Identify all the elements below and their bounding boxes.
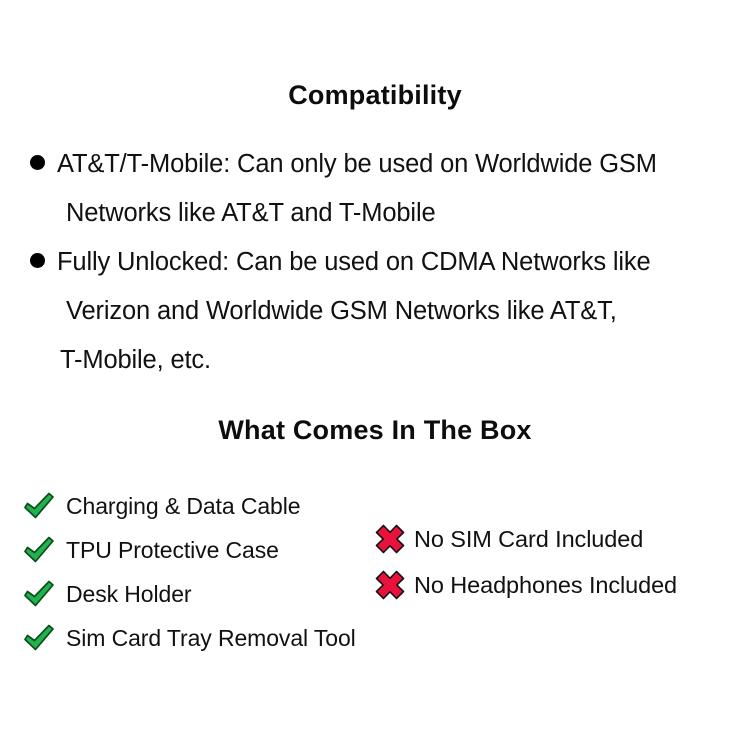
compatibility-heading: Compatibility	[0, 80, 750, 111]
list-item: Desk Holder	[22, 572, 356, 616]
list-item: Charging & Data Cable	[22, 484, 356, 528]
box-contents-heading: What Comes In The Box	[0, 415, 750, 446]
green-check-icon	[22, 623, 56, 653]
list-item: No SIM Card Included	[374, 516, 677, 562]
list-item: No Headphones Included	[374, 562, 677, 608]
excluded-items-list: No SIM Card Included No Headphones Inclu…	[374, 516, 677, 608]
compatibility-item: Fully Unlocked: Can be used on CDMA Netw…	[0, 238, 750, 385]
list-item-label: No Headphones Included	[414, 572, 677, 599]
list-item-label: Desk Holder	[66, 581, 191, 608]
green-check-icon	[22, 579, 56, 609]
compatibility-line: AT&T/T-Mobile: Can only be used on World…	[0, 140, 750, 189]
compatibility-list: AT&T/T-Mobile: Can only be used on World…	[0, 140, 750, 385]
green-check-icon	[22, 535, 56, 565]
list-item: Sim Card Tray Removal Tool	[22, 616, 356, 660]
list-item: TPU Protective Case	[22, 528, 356, 572]
list-item-label: No SIM Card Included	[414, 526, 643, 553]
product-info-graphic: Compatibility AT&T/T-Mobile: Can only be…	[0, 0, 750, 750]
compatibility-line: Verizon and Worldwide GSM Networks like …	[0, 287, 750, 336]
green-check-icon	[22, 491, 56, 521]
red-cross-icon	[374, 569, 406, 601]
compatibility-line-text: AT&T/T-Mobile: Can only be used on World…	[57, 150, 657, 178]
compatibility-line: Fully Unlocked: Can be used on CDMA Netw…	[0, 238, 750, 287]
compatibility-line-text: Fully Unlocked: Can be used on CDMA Netw…	[57, 248, 651, 276]
included-items-list: Charging & Data Cable TPU Protective Cas…	[22, 484, 356, 660]
compatibility-item: AT&T/T-Mobile: Can only be used on World…	[0, 140, 750, 238]
list-item-label: Sim Card Tray Removal Tool	[66, 625, 356, 652]
compatibility-line: Networks like AT&T and T-Mobile	[0, 189, 750, 238]
list-item-label: Charging & Data Cable	[66, 493, 300, 520]
list-item-label: TPU Protective Case	[66, 537, 279, 564]
bullet-dot-icon	[30, 155, 45, 170]
bullet-dot-icon	[30, 253, 45, 268]
compatibility-line: T-Mobile, etc.	[0, 336, 750, 385]
red-cross-icon	[374, 523, 406, 555]
